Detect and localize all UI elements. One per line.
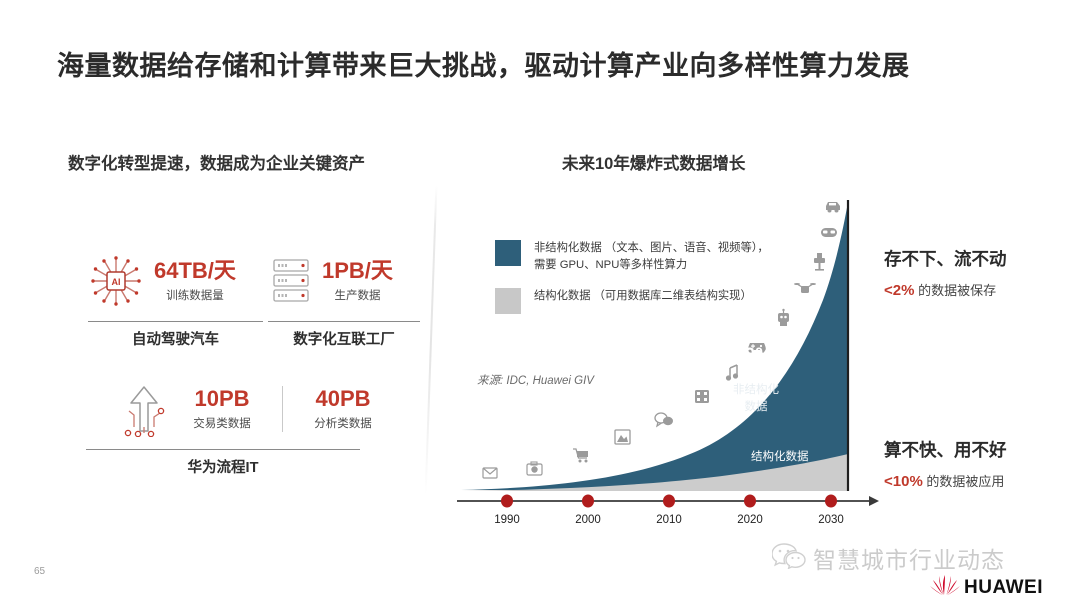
slide-root: 海量数据给存储和计算带来巨大挑战，驱动计算产业向多样性算力发展 数字化转型提速，… xyxy=(0,0,1080,607)
vr-headset-icon xyxy=(821,228,837,239)
metric-rule xyxy=(268,321,420,322)
callout-title: 存不下、流不动 xyxy=(884,246,1007,271)
metric-footer: 华为流程IT xyxy=(86,456,360,477)
callout-suffix: 的数据被应用 xyxy=(923,474,1005,489)
timeline-dot-2030 xyxy=(825,495,837,508)
structured-band-label: 结构化数据 xyxy=(751,448,809,464)
timeline-dot-1990 xyxy=(501,495,513,508)
chat-bubble-icon xyxy=(655,413,673,426)
car-icon xyxy=(826,202,840,213)
legend-line-1: 非结构化数据 （文本、图片、语音、视频等）， xyxy=(534,240,769,257)
callout-highlight: <2% xyxy=(884,282,914,299)
metric-label: 训练数据量 xyxy=(154,287,236,303)
robot-icon xyxy=(778,309,789,326)
callout-compute-challenge: 算不快、用不好 <10% 的数据被应用 xyxy=(884,437,1007,490)
watermark-text: 智慧城市行业动态 xyxy=(813,541,1005,575)
metric-value: 10PB xyxy=(178,387,266,411)
legend-label-unstructured: 非结构化数据 （文本、图片、语音、视频等）， 需要 GPU、NPU等多样性算力 xyxy=(534,240,769,274)
cctv-camera-icon xyxy=(814,253,825,271)
timeline-label-2030: 2030 xyxy=(818,514,844,526)
callout-subtitle: <10% 的数据被应用 xyxy=(884,471,1007,490)
legend-swatch-structured xyxy=(495,288,521,314)
callout-suffix: 的数据被保存 xyxy=(914,283,996,298)
timeline-label-2020: 2020 xyxy=(737,514,763,526)
callout-subtitle: <2% 的数据被保存 xyxy=(884,280,1007,299)
legend-item-structured: 结构化数据 （可用数据库二维表结构实现） xyxy=(495,288,769,314)
legend-label-structured: 结构化数据 （可用数据库二维表结构实现） xyxy=(534,288,752,305)
page-title: 海量数据给存储和计算带来巨大挑战，驱动计算产业向多样性算力发展 xyxy=(57,44,910,83)
callout-title: 算不快、用不好 xyxy=(884,437,1007,462)
chart-source-note: 来源: IDC, Huawei GIV xyxy=(477,372,594,388)
right-panel-heading: 未来10年爆炸式数据增长 xyxy=(562,150,745,174)
data-flow-icon xyxy=(120,380,170,438)
callout-highlight: <10% xyxy=(884,473,923,490)
chart-svg xyxy=(455,190,885,500)
huawei-wordmark: HUAWEI xyxy=(964,577,1043,599)
ai-chip-icon: AI xyxy=(88,253,144,309)
shopping-cart-icon xyxy=(573,449,588,463)
growth-area-chart: 非结构化数据 （文本、图片、语音、视频等）， 需要 GPU、NPU等多样性算力 … xyxy=(455,190,885,535)
chart-timeline-axis: 1990 2000 2010 2020 2030 xyxy=(455,492,885,537)
drone-icon xyxy=(794,283,816,293)
timeline-label-2000: 2000 xyxy=(575,514,601,526)
timeline-dot-2020 xyxy=(744,495,756,508)
metric-footer: 数字化互联工厂 xyxy=(268,328,420,349)
metric-group-autonomous-driving: AI 64TB/天 训练数据量 自动驾驶汽车 xyxy=(88,250,263,349)
metric-footer: 自动驾驶汽车 xyxy=(88,328,263,349)
music-note-icon xyxy=(726,365,738,381)
timeline-dot-2000 xyxy=(582,495,594,508)
panel-divider xyxy=(425,185,438,495)
metric-value: 40PB xyxy=(299,387,387,411)
wechat-watermark: 智慧城市行业动态 xyxy=(772,541,1005,575)
wechat-icon xyxy=(772,543,806,574)
metric-value: 64TB/天 xyxy=(154,259,236,283)
callout-storage-challenge: 存不下、流不动 <2% 的数据被保存 xyxy=(884,246,1007,299)
metric-label: 交易类数据 xyxy=(178,415,266,431)
metric-label: 生产数据 xyxy=(322,287,393,303)
legend-item-unstructured: 非结构化数据 （文本、图片、语音、视频等）， 需要 GPU、NPU等多样性算力 xyxy=(495,240,769,274)
area-inner-label: 非结构化数据 xyxy=(733,382,779,415)
metric-group-huawei-process-it: 10PB 交易类数据 40PB 分析类数据 华为流程IT xyxy=(120,378,360,477)
timeline-dot-2010 xyxy=(663,495,675,508)
metric-separator xyxy=(282,386,283,432)
server-rack-icon xyxy=(268,253,314,309)
huawei-logo: HUAWEI xyxy=(930,573,1043,602)
metric-rule xyxy=(88,321,263,322)
svg-text:AI: AI xyxy=(112,277,121,287)
legend-swatch-unstructured xyxy=(495,240,521,266)
timeline-label-1990: 1990 xyxy=(494,514,520,526)
chart-legend: 非结构化数据 （文本、图片、语音、视频等）， 需要 GPU、NPU等多样性算力 … xyxy=(495,240,769,328)
area-percent-label: >80% xyxy=(723,345,772,367)
video-icon xyxy=(695,390,709,403)
metric-label: 分析类数据 xyxy=(299,415,387,431)
legend-line-2: 需要 GPU、NPU等多样性算力 xyxy=(534,257,769,274)
metric-group-smart-factory: 1PB/天 生产数据 数字化互联工厂 xyxy=(268,250,420,349)
huawei-flower-icon xyxy=(930,573,960,602)
image-icon xyxy=(615,430,630,444)
metric-value: 1PB/天 xyxy=(322,259,393,283)
metric-rule xyxy=(86,449,360,450)
camera-icon xyxy=(527,462,542,475)
left-panel-heading: 数字化转型提速，数据成为企业关键资产 xyxy=(68,150,365,174)
envelope-icon xyxy=(483,468,497,478)
timeline-svg xyxy=(455,492,885,516)
axis-arrow-icon xyxy=(869,496,879,506)
timeline-label-2010: 2010 xyxy=(656,514,682,526)
page-number: 65 xyxy=(34,566,45,577)
